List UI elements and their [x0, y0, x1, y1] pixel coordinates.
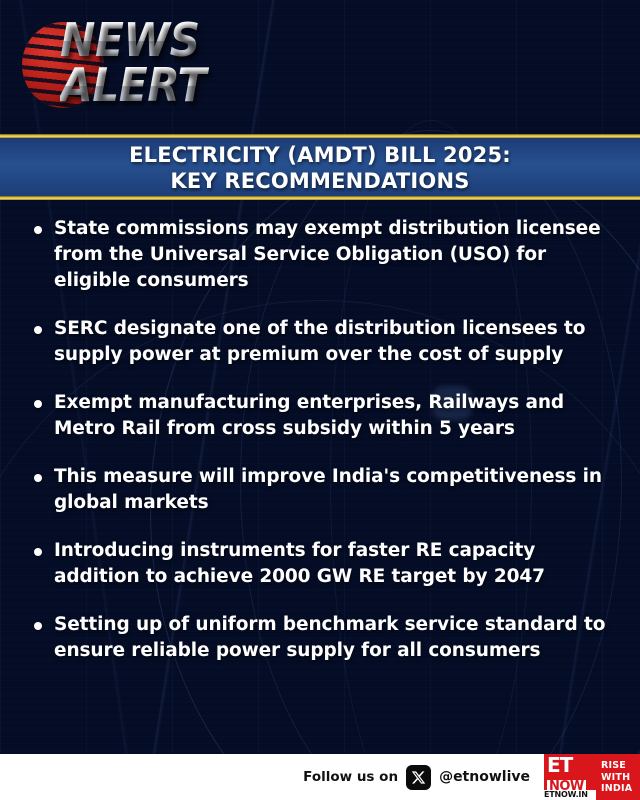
header: NEWS ALERT: [0, 0, 640, 134]
list-item: This measure will improve India's compet…: [30, 464, 624, 516]
footer-bar: Follow us on @etnowlive ET NOW ETNOW.IN …: [0, 754, 640, 800]
bullet-icon: [34, 226, 42, 234]
bullet-icon: [34, 548, 42, 556]
list-item-text: Introducing instruments for faster RE ca…: [54, 538, 624, 590]
list-item-text: This measure will improve India's compet…: [54, 464, 624, 516]
list-item-text: Setting up of uniform benchmark service …: [54, 612, 624, 664]
bullet-icon: [34, 326, 42, 334]
etnow-tagline-line1: RISE: [601, 760, 626, 771]
list-item: Setting up of uniform benchmark service …: [30, 612, 624, 664]
list-item: State commissions may exempt distributio…: [30, 216, 624, 294]
bullet-icon: [34, 622, 42, 630]
title-banner-text: ELECTRICITY (AMDT) BILL 2025: KEY RECOMM…: [0, 139, 640, 197]
etnow-logo[interactable]: ET NOW ETNOW.IN RISE WITH INDIA: [544, 754, 640, 800]
list-item: SERC designate one of the distribution l…: [30, 316, 624, 368]
recommendations-list: State commissions may exempt distributio…: [0, 206, 640, 746]
etnow-website: ETNOW.IN: [544, 790, 596, 800]
page-title-line1: ELECTRICITY (AMDT) BILL 2025:: [129, 143, 511, 167]
etnow-tagline-line3: INDIA: [601, 783, 632, 794]
follow-label: Follow us on: [303, 769, 398, 785]
page-title-line2: KEY RECOMMENDATIONS: [129, 168, 511, 194]
list-item-text: State commissions may exempt distributio…: [54, 216, 624, 294]
social-handle[interactable]: @etnowlive: [439, 769, 530, 785]
bullet-icon: [34, 474, 42, 482]
list-item: Exempt manufacturing enterprises, Railwa…: [30, 390, 624, 442]
x-twitter-icon[interactable]: [406, 765, 431, 790]
etnow-tagline-line2: WITH: [601, 772, 630, 783]
list-item: Introducing instruments for faster RE ca…: [30, 538, 624, 590]
news-alert-line2: ALERT: [60, 62, 318, 108]
news-alert-line1: NEWS: [60, 18, 318, 62]
page-title: ELECTRICITY (AMDT) BILL 2025: KEY RECOMM…: [129, 142, 511, 194]
list-item-text: Exempt manufacturing enterprises, Railwa…: [54, 390, 624, 442]
etnow-logo-et: ET: [547, 753, 572, 777]
etnow-tagline: RISE WITH INDIA: [596, 754, 640, 800]
bullet-icon: [34, 400, 42, 408]
news-alert-wordmark: NEWS ALERT: [60, 18, 340, 108]
list-item-text: SERC designate one of the distribution l…: [54, 316, 624, 368]
gold-rule-top: [0, 134, 640, 138]
news-alert-graphic: NEWS ALERT ELECTRICITY (AMDT) BILL 2025:…: [0, 0, 640, 800]
